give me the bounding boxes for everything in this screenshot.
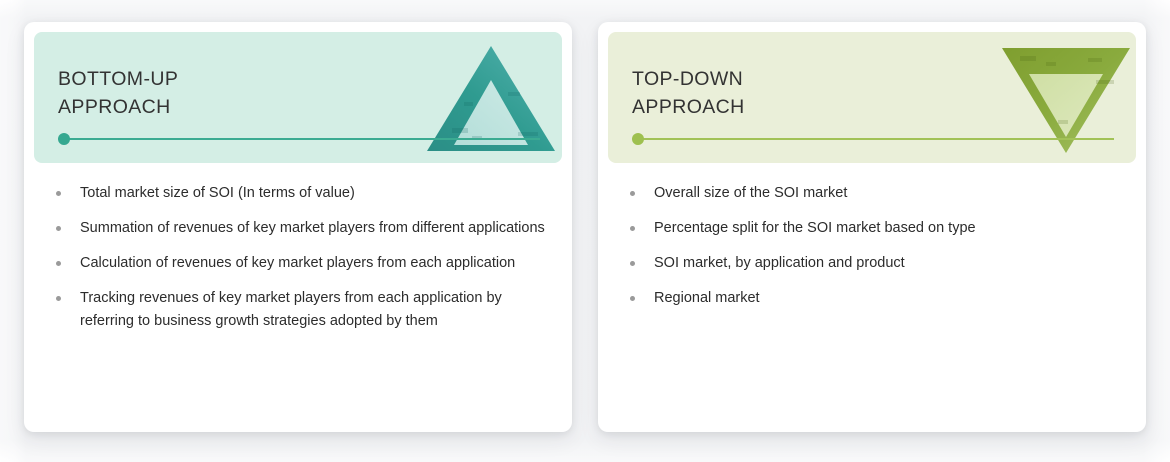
approach-cards-container: BOTTOM-UP APPROACH Total market size of … [0,0,1170,462]
list-item: Summation of revenues of key market play… [52,217,550,240]
list-item: Tracking revenues of key market players … [52,287,550,333]
bullet-dot-icon [630,296,635,301]
accent-dot [632,133,644,145]
list-item-text: Overall size of the SOI market [654,185,847,201]
card-bottom-up-approach: BOTTOM-UP APPROACH Total market size of … [24,22,572,432]
list-item: Regional market [626,287,1124,310]
bullet-dot-icon [56,191,61,196]
list-item: Total market size of SOI (In terms of va… [52,182,550,205]
accent-line [637,138,1114,140]
card-header-top-down: TOP-DOWN APPROACH [608,32,1136,163]
card-top-down-approach: TOP-DOWN APPROACH Overall size of the SO… [598,22,1146,432]
accent-dot [58,133,70,145]
list-item-text: Calculation of revenues of key market pl… [80,255,515,271]
bullet-dot-icon [56,226,61,231]
list-item: Calculation of revenues of key market pl… [52,252,550,275]
bullet-dot-icon [56,296,61,301]
list-item-text: Total market size of SOI (In terms of va… [80,185,355,201]
list-item: Overall size of the SOI market [626,182,1124,205]
list-item: Percentage split for the SOI market base… [626,217,1124,240]
bullet-dot-icon [630,226,635,231]
bullet-dot-icon [56,261,61,266]
list-item-text: Summation of revenues of key market play… [80,220,545,236]
bullet-dot-icon [630,191,635,196]
accent-line [63,138,540,140]
list-item: SOI market, by application and product [626,252,1124,275]
header-accent-rule-bottom-up [58,133,540,145]
header-accent-rule-top-down [632,133,1114,145]
list-item-text: Percentage split for the SOI market base… [654,220,976,236]
bullet-list-bottom-up: Total market size of SOI (In terms of va… [52,182,550,345]
bullet-dot-icon [630,261,635,266]
list-item-text: SOI market, by application and product [654,255,905,271]
list-item-text: Regional market [654,290,760,306]
card-title-bottom-up: BOTTOM-UP APPROACH [58,65,178,121]
page-background: BOTTOM-UP APPROACH Total market size of … [0,0,1170,462]
bullet-list-top-down: Overall size of the SOI market Percentag… [626,182,1124,322]
card-title-top-down: TOP-DOWN APPROACH [632,65,745,121]
list-item-text: Tracking revenues of key market players … [80,290,502,329]
card-header-bottom-up: BOTTOM-UP APPROACH [34,32,562,163]
